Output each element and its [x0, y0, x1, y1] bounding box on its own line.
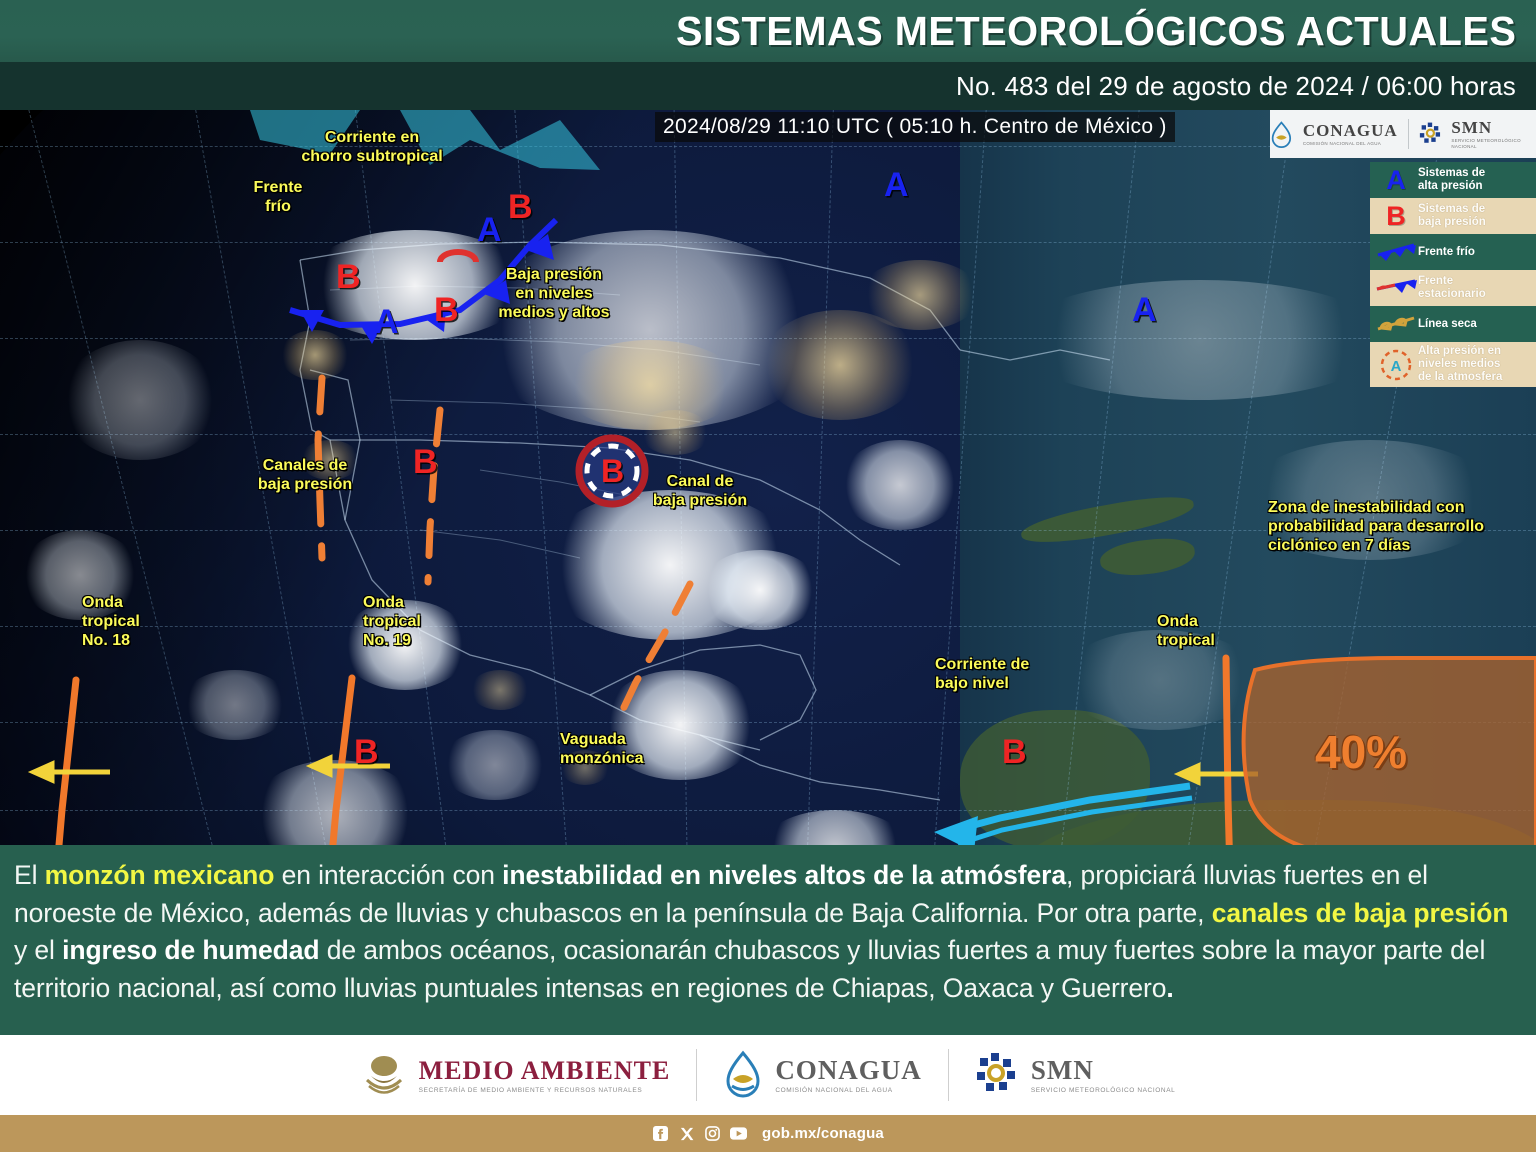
svg-text:A: A — [1391, 358, 1402, 375]
map-legend: ASistemas de alta presiónBSistemas de ba… — [1370, 162, 1536, 387]
low-pressure-symbol-9: B — [1002, 735, 1027, 769]
satellite-map[interactable]: 40% B Corriente en chorro subtropicalFre… — [0, 110, 1536, 845]
letter-b-red-icon: B — [1374, 201, 1418, 231]
legend-item-frente-estacionario: Frente estacionario — [1370, 270, 1536, 306]
summary-segment: ingreso de humedad — [62, 935, 319, 965]
legend-item-label: Frente estacionario — [1418, 275, 1486, 301]
low-pressure-symbol-8: B — [354, 735, 379, 769]
summary-segment: monzón mexicano — [45, 860, 275, 890]
summary-segment: El — [14, 860, 45, 890]
map-label-zona-inestabilidad: Zona de inestabilidad con probabilidad p… — [1268, 498, 1484, 555]
tropical-wave-arrow — [34, 758, 1258, 782]
page-title: SISTEMAS METEOROLÓGICOS ACTUALES — [676, 2, 1516, 60]
map-label-onda-tropical-19: Onda tropical No. 19 — [363, 593, 421, 650]
summary-text: El monzón mexicano en interacción con in… — [14, 857, 1522, 1007]
smn-logo-name: SMN — [1451, 118, 1536, 138]
map-label-baja-presion-niveles-medios-altos: Baja presión en niveles medios y altos — [464, 265, 644, 322]
facebook-icon[interactable] — [652, 1125, 669, 1142]
mexico-eagle-icon — [361, 1050, 407, 1100]
bulletin-number-date: No. 483 del 29 de agosto de 2024 / 06:00… — [956, 62, 1516, 110]
map-label-frente-frio: Frente frío — [188, 178, 368, 216]
conagua-footer-subtitle: COMISIÓN NACIONAL DEL AGUA — [775, 1086, 922, 1095]
smn-footer-subtitle: SERVICIO METEOROLÓGICO NACIONAL — [1031, 1086, 1176, 1095]
low-pressure-symbol-2: B — [508, 190, 533, 224]
low-pressure-symbol-3: B — [336, 260, 361, 294]
summary-segment: . — [1166, 973, 1173, 1003]
low-level-jet-arrow — [934, 786, 1192, 845]
high-pressure-symbol-4: A — [374, 305, 399, 339]
map-label-vaguada-monzonica: Vaguada monzónica — [560, 730, 644, 768]
summary-segment: y el — [14, 935, 62, 965]
high-pressure-symbol-1: A — [477, 213, 502, 247]
legend-item-frente-frio: Frente frío — [1370, 234, 1536, 270]
smn-footer-name: SMN — [1031, 1055, 1176, 1086]
dashed-circle-a-icon: A — [1374, 350, 1418, 380]
logo-divider — [1408, 119, 1409, 149]
x-twitter-icon[interactable] — [678, 1125, 695, 1142]
legend-item-label: Alta presión en niveles medios de la atm… — [1418, 345, 1502, 384]
low-pressure-symbol-6: B — [413, 445, 438, 479]
map-label-canales-de-baja-presion: Canales de baja presión — [215, 456, 395, 494]
map-label-canal-de-baja-presion: Canal de baja presión — [610, 472, 790, 510]
map-top-logos: CONAGUA COMISIÓN NACIONAL DEL AGUA SMN S… — [1270, 110, 1536, 158]
legend-item-label: Sistemas de baja presión — [1418, 203, 1486, 229]
conagua-logo-subtitle: COMISIÓN NACIONAL DEL AGUA — [1303, 141, 1398, 147]
youtube-icon[interactable] — [730, 1125, 747, 1142]
canal-baja-presion-line — [318, 378, 690, 724]
smn-spiral-icon — [975, 1051, 1019, 1099]
legend-item-sistemas-baja-presion: BSistemas de baja presión — [1370, 198, 1536, 234]
stationary-front-icon — [1374, 273, 1418, 303]
summary-panel: El monzón mexicano en interacción con in… — [0, 845, 1536, 1035]
medio-ambiente-name: MEDIO AMBIENTE — [419, 1056, 671, 1086]
conagua-water-icon — [1270, 119, 1293, 149]
weather-bulletin-page: SISTEMAS METEOROLÓGICOS ACTUALES No. 483… — [0, 0, 1536, 1152]
legend-item-label: Sistemas de alta presión — [1418, 167, 1485, 193]
legend-item-sistemas-alta-presion: ASistemas de alta presión — [1370, 162, 1536, 198]
medio-ambiente-logo: MEDIO AMBIENTE SECRETARÍA DE MEDIO AMBIE… — [361, 1050, 671, 1100]
cyclone-probability-label: 40% — [1315, 725, 1407, 779]
legend-item-alta-presion-niveles-medios: AAlta presión en niveles medios de la at… — [1370, 342, 1536, 387]
medio-ambiente-subtitle: SECRETARÍA DE MEDIO AMBIENTE Y RECURSOS … — [419, 1086, 671, 1095]
smn-footer-logo: SMN SERVICIO METEOROLÓGICO NACIONAL — [975, 1051, 1176, 1099]
smn-logo-subtitle: SERVICIO METEOROLÓGICO NACIONAL — [1451, 138, 1536, 150]
summary-segment: inestabilidad en niveles altos de la atm… — [502, 860, 1066, 890]
map-label-corriente-de-bajo-nivel: Corriente de bajo nivel — [935, 655, 1029, 693]
smn-spiral-icon — [1419, 120, 1442, 148]
low-pressure-symbol-5: B — [434, 293, 459, 327]
footer-divider — [948, 1049, 949, 1101]
legend-item-label: Línea seca — [1418, 318, 1477, 331]
social-footer-bar: gob.mx/conagua — [0, 1115, 1536, 1152]
high-pressure-symbol-0: A — [884, 168, 909, 202]
map-label-corriente-chorro-subtropical: Corriente en chorro subtropical — [282, 128, 462, 166]
summary-segment: en interacción con — [274, 860, 502, 890]
high-pressure-symbol-7: A — [1132, 293, 1157, 327]
conagua-footer-name: CONAGUA — [775, 1055, 922, 1086]
conagua-water-icon — [723, 1050, 763, 1100]
summary-segment: canales de baja presión — [1212, 898, 1509, 928]
satellite-timestamp: 2024/08/29 11:10 UTC ( 05:10 h. Centro d… — [655, 112, 1175, 142]
dry-line-icon — [1374, 309, 1418, 339]
conagua-footer-logo: CONAGUA COMISIÓN NACIONAL DEL AGUA — [723, 1050, 922, 1100]
gob-mx-url[interactable]: gob.mx/conagua — [762, 1125, 884, 1142]
footer-divider — [696, 1049, 697, 1101]
header-bar: SISTEMAS METEOROLÓGICOS ACTUALES — [0, 0, 1536, 62]
map-label-onda-tropical-atlantico: Onda tropical — [1157, 612, 1215, 650]
letter-a-blue-icon: A — [1374, 165, 1418, 195]
instagram-icon[interactable] — [704, 1125, 721, 1142]
conagua-logo-name: CONAGUA — [1303, 121, 1398, 141]
map-label-onda-tropical-18: Onda tropical No. 18 — [82, 593, 140, 650]
cold-front-icon — [1374, 237, 1418, 267]
footer-logos: MEDIO AMBIENTE SECRETARÍA DE MEDIO AMBIE… — [0, 1035, 1536, 1115]
legend-item-linea-seca: Línea seca — [1370, 306, 1536, 342]
legend-item-label: Frente frío — [1418, 246, 1475, 259]
